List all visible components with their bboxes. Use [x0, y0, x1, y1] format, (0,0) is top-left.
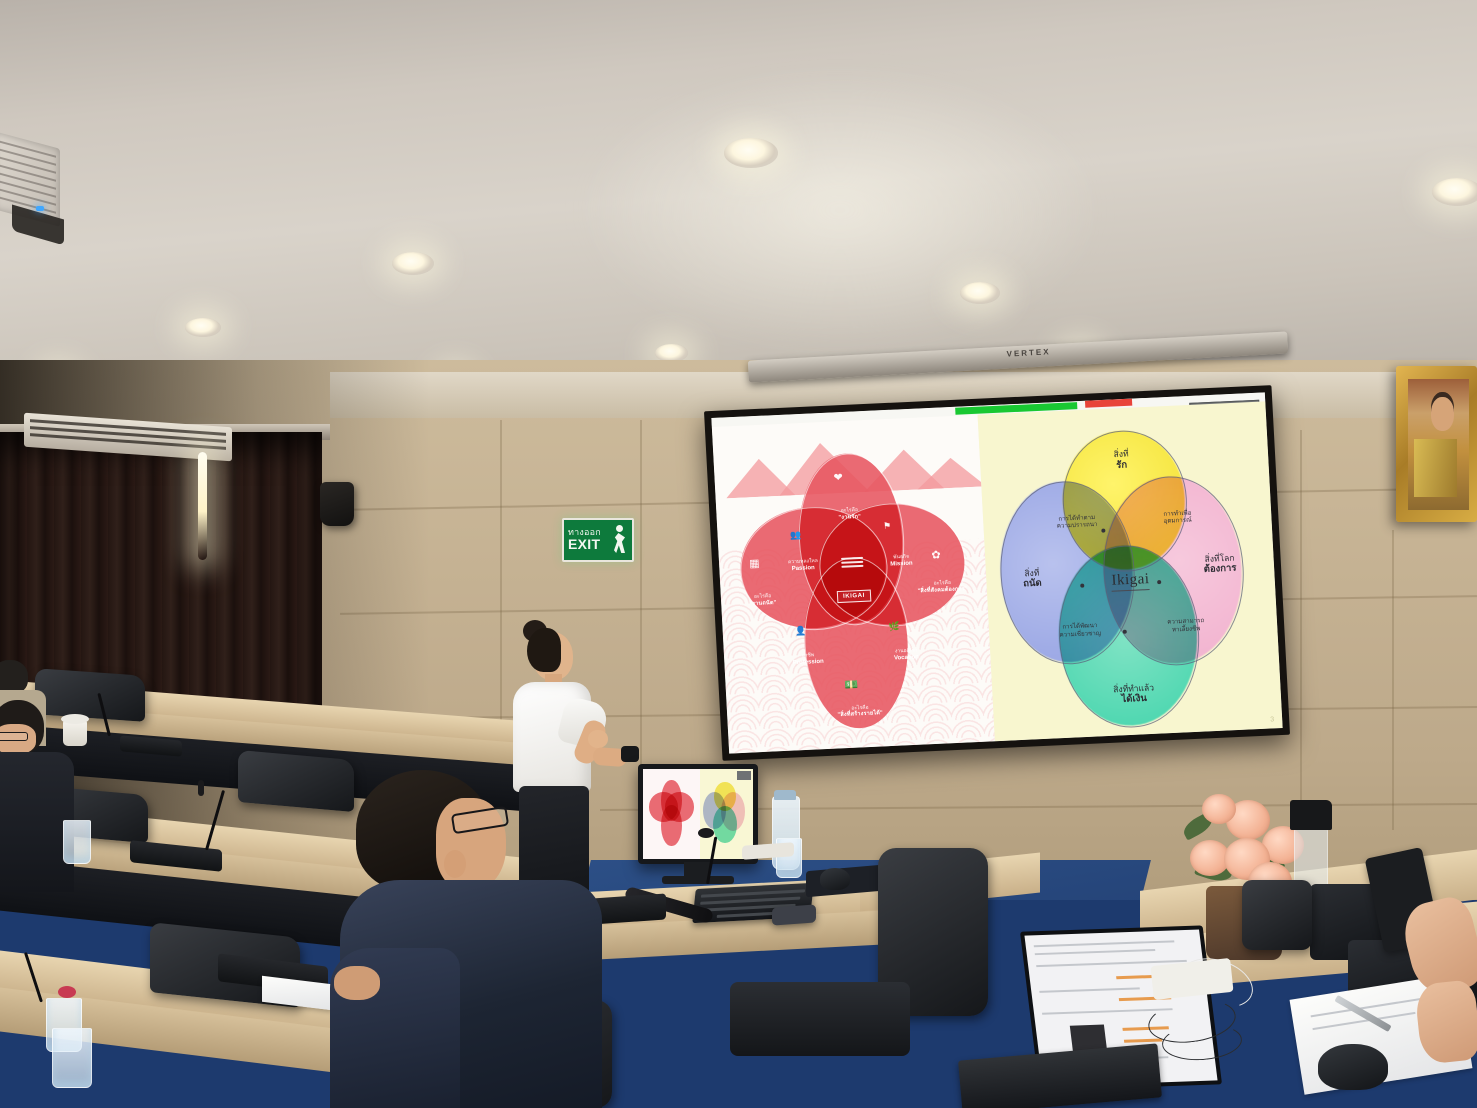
wc-label-love: สิ่งที่ รัก	[1081, 447, 1162, 472]
wall-panel-seam	[640, 420, 642, 780]
monitor-zoom-thumb	[737, 771, 751, 780]
exit-sign-english: EXIT	[568, 537, 601, 551]
connector-dot	[1123, 629, 1127, 633]
ceiling-glow	[560, 60, 1120, 360]
chair-right-far[interactable]	[1242, 880, 1312, 950]
portrait-sash	[1414, 439, 1457, 497]
wall-panel-seam	[500, 420, 502, 760]
presenter-clicker[interactable]	[621, 746, 639, 762]
ikigai-venn-watercolor: สิ่งที่ รัก สิ่งที่โลก ต้องการ สิ่งที่ ถ…	[990, 425, 1271, 738]
smartphone-on-desk[interactable]	[772, 904, 816, 925]
water-glass	[52, 1028, 92, 1088]
ceiling-downlight	[392, 252, 434, 275]
wall-panel-seam	[1300, 430, 1302, 830]
flag-steps-icon: ⚑	[883, 520, 892, 531]
ceiling-downlight	[185, 318, 221, 337]
ceiling-downlight	[1432, 178, 1477, 206]
attendee-front-navy	[340, 770, 640, 1108]
projection-screen: THALISA JAIRAK	[704, 385, 1290, 761]
window-light-gap	[198, 452, 207, 560]
mouse[interactable]	[820, 868, 850, 890]
conference-room-photo: ทางออก EXIT VERTEX	[0, 0, 1477, 1108]
ikigai-center-label: IKIGAI	[837, 589, 872, 603]
wall-speaker	[320, 482, 354, 526]
presenter-hair	[527, 628, 561, 672]
hand-flower-icon: ✿	[931, 548, 941, 561]
monitor-base	[662, 876, 734, 884]
crown-icon	[841, 557, 864, 570]
royal-portrait-frame	[1396, 366, 1477, 522]
monitor-screen	[643, 769, 753, 859]
ikigai-center-word: Ikigai	[1111, 571, 1150, 592]
running-man-icon	[612, 525, 628, 555]
spray-nozzle	[1290, 800, 1332, 830]
presenter-hand	[588, 730, 608, 748]
people-heart-icon: 👥	[790, 530, 802, 542]
chair-right-seat[interactable]	[730, 982, 910, 1056]
projected-slide: THALISA JAIRAK	[711, 392, 1282, 753]
wall-panel-seam	[1392, 530, 1394, 830]
water-glass	[63, 820, 91, 864]
gooseneck-mic-head	[698, 828, 714, 838]
cup-lid	[61, 714, 89, 724]
wc-label-world-needs: สิ่งที่โลก ต้องการ	[1177, 551, 1263, 576]
ikigai-venn-red: ❤ ▦ ✿ 💵 👥 ⚑ 👤 🌿 อะไรคือ "งานรัก"	[730, 448, 978, 733]
ac-status-led	[36, 206, 44, 211]
ceiling-downlight	[960, 282, 1000, 304]
portrait-face	[1431, 397, 1454, 431]
mouse[interactable]	[1318, 1044, 1388, 1090]
hands-plant-icon: 🌿	[888, 622, 900, 634]
slide-content: ❤ ▦ ✿ 💵 👥 ⚑ 👤 🌿 อะไรคือ "งานรัก"	[712, 401, 1283, 753]
slide-left-panel: ❤ ▦ ✿ 💵 👥 ⚑ 👤 🌿 อะไรคือ "งานรัก"	[712, 415, 995, 754]
ceiling-downlight	[724, 138, 778, 168]
slide-number: 3	[1270, 716, 1274, 723]
royal-portrait-image	[1408, 379, 1469, 510]
bottle-cap	[774, 790, 796, 800]
slide-right-panel: สิ่งที่ รัก สิ่งที่โลก ต้องการ สิ่งที่ ถ…	[977, 401, 1282, 741]
heart-icon: ❤	[833, 470, 843, 483]
screen-brand-label: VERTEX	[1006, 347, 1050, 358]
money-icon: 💵	[844, 678, 858, 692]
attendee-left-dark	[0, 700, 72, 890]
zoom-stop-share-button[interactable]	[1085, 399, 1132, 408]
chair-back[interactable]	[238, 750, 354, 812]
gooseneck-mic-head	[58, 986, 76, 998]
podium-monitor[interactable]	[638, 764, 758, 864]
attendee-hand	[334, 966, 380, 1000]
attendee-ear	[444, 850, 466, 878]
mini-venn-red	[649, 780, 695, 847]
exit-sign: ทางออก EXIT	[562, 518, 634, 562]
worker-icon: 👤	[795, 626, 807, 638]
easel-icon: ▦	[749, 557, 760, 570]
gooseneck-mic-head	[198, 780, 204, 796]
rose	[1202, 794, 1236, 824]
wc-label-good-at: สิ่งที่ ถนัด	[1000, 566, 1065, 590]
